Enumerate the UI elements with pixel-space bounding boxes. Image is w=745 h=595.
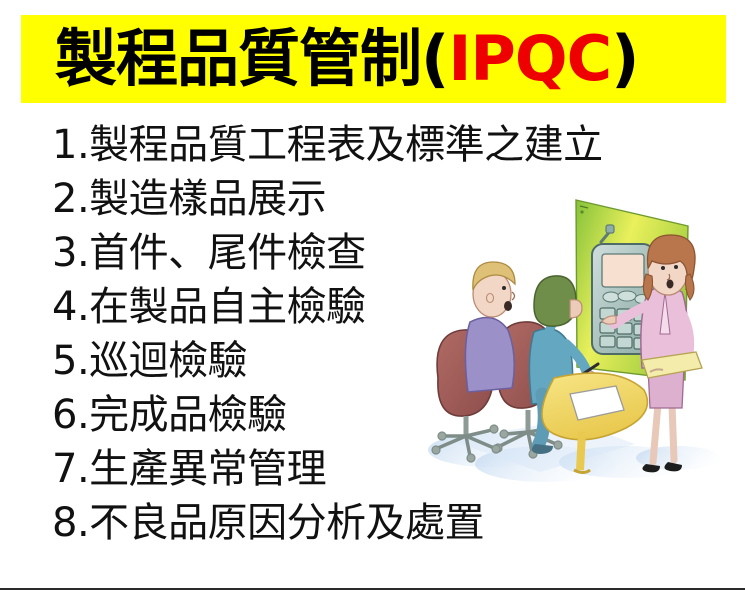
- list-item-number: 8.: [52, 500, 89, 546]
- slide-canvas: 製程品質管制(IPQC) 1.製程品質工程表及標準之建立 2.製造樣品展示 3.…: [0, 0, 745, 595]
- title-banner: 製程品質管制(IPQC): [21, 15, 726, 103]
- list-item-label: 製程品質工程表及標準之建立: [89, 122, 603, 168]
- list-item-label: 在製品自主檢驗: [89, 284, 366, 330]
- list-item-label: 不良品原因分析及處置: [89, 500, 484, 546]
- list-item-number: 1.: [52, 122, 89, 168]
- page-title: 製程品質管制(IPQC): [55, 28, 638, 90]
- list-item-number: 6.: [52, 392, 89, 438]
- list-item-number: 2.: [52, 176, 89, 222]
- list-item-number: 5.: [52, 338, 89, 384]
- presentation-illustration: [420, 182, 745, 488]
- bottom-divider: [0, 588, 745, 590]
- list-item-label: 生產異常管理: [89, 446, 326, 492]
- list-item: 8.不良品原因分析及處置: [52, 496, 712, 550]
- title-paren-close: ): [611, 22, 638, 95]
- list-item-number: 4.: [52, 284, 89, 330]
- title-main-text: 製程品質管制: [55, 22, 421, 95]
- list-item-label: 完成品檢驗: [89, 392, 287, 438]
- list-item-label: 首件、尾件檢查: [89, 230, 366, 276]
- list-item-number: 3.: [52, 230, 89, 276]
- list-item-label: 製造樣品展示: [89, 176, 326, 222]
- list-item-number: 7.: [52, 446, 89, 492]
- list-item: 1.製程品質工程表及標準之建立: [52, 118, 712, 172]
- list-item-label: 巡迴檢驗: [89, 338, 247, 384]
- title-accent-text: IPQC: [448, 22, 611, 95]
- title-paren-open: (: [421, 22, 448, 95]
